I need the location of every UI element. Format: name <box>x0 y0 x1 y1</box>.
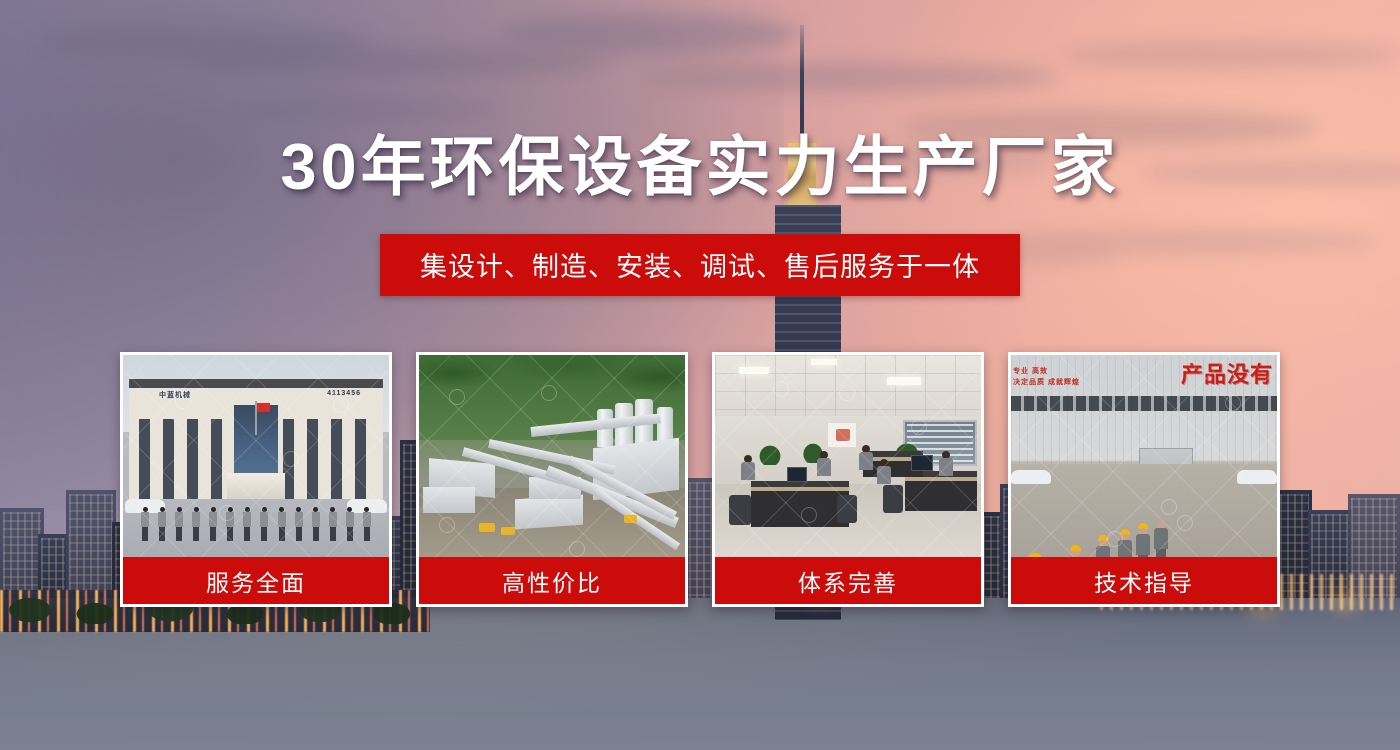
page-title: 30年环保设备实力生产厂家 <box>0 132 1400 202</box>
office-worker <box>939 451 953 477</box>
parked-car <box>1011 470 1051 484</box>
office-desk <box>905 471 977 511</box>
feature-card[interactable]: 体系完善 <box>712 352 984 607</box>
staff-person <box>192 507 200 541</box>
cloud-shape <box>1060 40 1400 70</box>
photo-scene: 产品没有 专业 高效 决定品质 成就辉煌 <box>1011 355 1277 557</box>
office-worker <box>859 445 873 471</box>
wall-window-strip <box>1011 396 1277 411</box>
ceiling-light <box>887 377 921 385</box>
worker-body <box>1096 546 1110 557</box>
factory-slogan-small: 专业 高效 决定品质 成就辉煌 <box>1013 367 1080 388</box>
photo-scene <box>419 355 685 557</box>
worker-body <box>1154 528 1168 549</box>
office-worker <box>817 451 831 477</box>
staff-row <box>141 507 371 541</box>
staff-person <box>158 507 166 541</box>
ceiling-light <box>739 367 769 374</box>
office-interior-photo <box>715 355 981 557</box>
plant-building <box>515 495 583 530</box>
plant-building <box>423 487 475 513</box>
office-chair <box>883 485 903 513</box>
excavator <box>501 527 515 535</box>
staff-person <box>295 507 303 541</box>
aerial-plant-photo <box>419 355 685 557</box>
wall-poster <box>827 422 857 448</box>
staff-person <box>141 507 149 541</box>
building-entrance <box>227 473 285 499</box>
photo-scene <box>715 355 981 557</box>
company-sign-text: 中蓝机械 <box>159 390 191 400</box>
slogan-word: 专业 <box>1013 368 1029 375</box>
cloud-shape <box>500 14 800 54</box>
feature-card-caption: 技术指导 <box>1011 557 1277 604</box>
worker-legs <box>1138 555 1148 557</box>
worker-body <box>1136 534 1150 555</box>
feature-card-list: 中蓝机械 4113456 <box>120 352 1280 607</box>
staff-person <box>363 507 371 541</box>
staff-person <box>243 507 251 541</box>
office-worker <box>741 455 755 481</box>
staff-person <box>209 507 217 541</box>
tower-spire <box>800 25 804 143</box>
promo-banner: 30年环保设备实力生产厂家 集设计、制造、安装、调试、售后服务于一体 中蓝机械 … <box>0 0 1400 750</box>
office-ceiling <box>715 355 981 416</box>
office-worker <box>877 459 891 485</box>
parked-car <box>1237 470 1277 484</box>
excavator <box>479 523 495 532</box>
worker-legs <box>1156 549 1166 557</box>
cloud-shape <box>190 48 610 76</box>
workers-training-photo: 产品没有 专业 高效 决定品质 成就辉煌 <box>1011 355 1277 557</box>
ceiling-light <box>811 359 837 365</box>
laptop-screen <box>787 467 807 482</box>
company-building-staff-photo: 中蓝机械 4113456 <box>123 355 389 557</box>
cloud-shape <box>640 62 1060 92</box>
feature-card[interactable]: 产品没有 专业 高效 决定品质 成就辉煌 <box>1008 352 1280 607</box>
potted-plant <box>757 443 783 465</box>
staff-person <box>260 507 268 541</box>
feature-card[interactable]: 高性价比 <box>416 352 688 607</box>
company-phone-text: 4113456 <box>327 390 361 397</box>
subtitle-banner: 集设计、制造、安装、调试、售后服务于一体 <box>380 234 1020 296</box>
office-chair <box>837 495 857 523</box>
slogan-word: 高效 <box>1032 368 1048 375</box>
staff-person <box>175 507 183 541</box>
worker-body <box>1118 540 1132 557</box>
flag-icon <box>257 403 270 412</box>
excavator <box>624 515 637 523</box>
slogan-word: 决定品质 <box>1013 379 1045 386</box>
feature-card[interactable]: 中蓝机械 4113456 <box>120 352 392 607</box>
photo-scene: 中蓝机械 4113456 <box>123 355 389 557</box>
factory-slogan-large: 产品没有 <box>1181 357 1273 389</box>
feature-card-caption: 服务全面 <box>123 557 389 604</box>
staff-person <box>226 507 234 541</box>
staff-person <box>312 507 320 541</box>
monitor-screen <box>911 455 933 471</box>
staff-person <box>346 507 354 541</box>
office-chair <box>729 495 751 525</box>
cloud-shape <box>240 98 500 120</box>
staff-person <box>278 507 286 541</box>
feature-card-caption: 高性价比 <box>419 557 685 604</box>
feature-card-caption: 体系完善 <box>715 557 981 604</box>
slogan-word: 成就辉煌 <box>1048 379 1080 386</box>
subtitle-container: 集设计、制造、安装、调试、售后服务于一体 <box>0 234 1400 296</box>
staff-person <box>329 507 337 541</box>
office-desk <box>751 481 849 527</box>
